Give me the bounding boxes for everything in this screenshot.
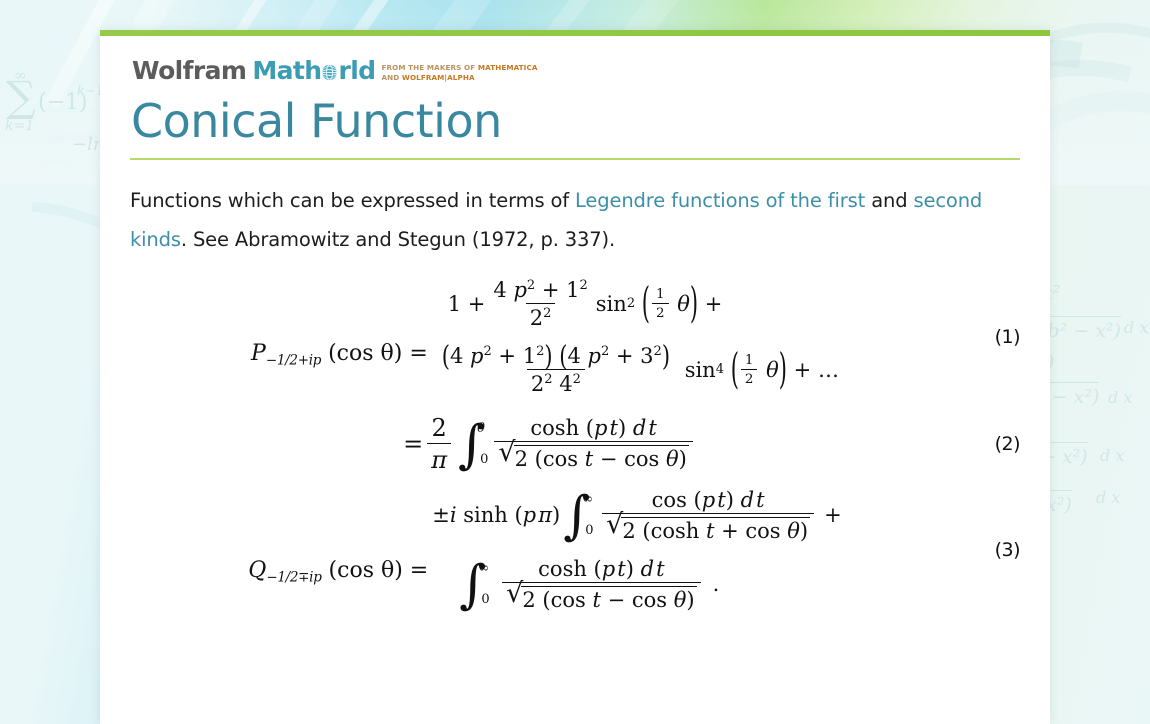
watermark-right-dx-2: d x xyxy=(1108,388,1132,407)
eq3-line1-trail: + xyxy=(824,503,842,527)
content-card: Wolfram Mathrld FROM THE MAKERS OF MATHE… xyxy=(100,30,1050,724)
tagline-line2-lead: AND xyxy=(381,73,401,82)
equation-3-lhs: Q−1/2∓ip (cos θ) = xyxy=(248,558,428,585)
equation-1-rhs: 1 + 4 p2 + 12 22 sin2 ( 12 θ) + xyxy=(434,278,839,396)
eq3-line1-integral: ∫ ∞ 0 xyxy=(563,492,595,538)
eq3-line2-integral-limits: ∞ 0 xyxy=(478,561,489,607)
equation-3-rhs: ±i sinh (p π) ∫ ∞ 0 cos (p t) d t xyxy=(432,488,841,612)
intro-text-3: . See Abramowitz and Stegun (1972, p. 33… xyxy=(181,228,615,251)
eq3-line2-integral-upper-limit: ∞ xyxy=(478,561,489,576)
logo-world-text: rld xyxy=(338,58,375,83)
equation-1-lhs: P−1/2+ip (cos θ) = xyxy=(251,341,428,368)
eq2-integral-lower-limit: 0 xyxy=(480,452,488,467)
eq1-line1-sin-term: sin2 ( 12 θ) + xyxy=(596,287,723,321)
eq2-integral-limits: θ 0 xyxy=(477,421,485,467)
eq3-line1-integral-upper-limit: ∞ xyxy=(582,492,593,507)
equation-3-row: Q−1/2∓ip (cos θ) = ±i sinh (p π) ∫ ∞ 0 xyxy=(130,488,1020,612)
eq2-integrand-numerator: cosh (p t) d t xyxy=(526,416,660,441)
logo-tagline: FROM THE MAKERS OF MATHEMATICA AND WOLFR… xyxy=(381,58,537,84)
watermark-right-dx-3: d x xyxy=(1100,446,1124,465)
eq2-integral: ∫ θ 0 xyxy=(458,421,487,467)
eq3-line1-fraction: cos (p t) d t √ 2 (cosh t + cos θ) xyxy=(602,488,814,543)
eq2-integrand-fraction: cosh (p t) d t √ 2 (cos t − cos θ) xyxy=(494,416,692,471)
link-legendre-first-kind[interactable]: Legendre functions of the first xyxy=(575,189,865,212)
eq3-line2-fraction: cosh (p t) d t √ 2 (cos t − cos θ) xyxy=(502,557,700,612)
watermark-right-dx-1: d x xyxy=(1124,318,1148,337)
equation-1-number: (1) xyxy=(995,326,1020,348)
eq2-coefficient-denominator: π xyxy=(427,443,451,474)
title-underline-rule xyxy=(130,158,1020,160)
eq3-line2-integral-lower-limit: 0 xyxy=(481,592,492,607)
eq3-line-1: ±i sinh (p π) ∫ ∞ 0 cos (p t) d t xyxy=(432,488,841,543)
intro-paragraph: Functions which can be expressed in term… xyxy=(130,182,1020,259)
eq1-line1-denominator: 22 xyxy=(526,303,556,330)
equation-2-number: (2) xyxy=(995,433,1020,455)
eq2-coefficient-fraction: 2 π xyxy=(427,414,451,474)
eq2-integrand-denominator: √ 2 (cos t − cos θ) xyxy=(494,441,692,471)
eq1-line2-numerator: (4 p2 + 12) (4 p2 + 32) xyxy=(438,344,674,369)
logo-wolfram-text: Wolfram xyxy=(132,58,246,83)
eq3-line-2: ∫ ∞ 0 cosh (p t) d t √ xyxy=(432,557,841,612)
eq1-argument: (cos θ) = xyxy=(328,341,428,366)
logo-mathworld-text: Mathrld xyxy=(252,58,375,83)
eq3-line2-trail: . xyxy=(713,572,720,596)
eq1-symbol-P: P xyxy=(251,341,266,366)
eq3-line2-numerator: cosh (p t) d t xyxy=(534,557,668,582)
eq1-line2-fraction: (4 p2 + 12) (4 p2 + 32) 22 42 xyxy=(438,344,674,396)
eq2-equals: = xyxy=(403,430,423,458)
intro-text-1: Functions which can be expressed in term… xyxy=(130,189,575,212)
equation-3-number: (3) xyxy=(995,539,1020,561)
eq2-integral-upper-limit: θ xyxy=(477,421,485,436)
watermark-right-dx-4: d x xyxy=(1096,488,1120,507)
equation-1-row: P−1/2+ip (cos θ) = 1 + 4 p2 + 12 22 xyxy=(130,278,1020,396)
intro-text-2: and xyxy=(865,189,913,212)
eq3-argument: (cos θ) = xyxy=(329,558,429,583)
eq1-line1-numerator: 4 p2 + 12 xyxy=(489,278,591,303)
equation-2-row: = 2 π ∫ θ 0 cosh xyxy=(130,414,1020,474)
eq1-line2-sin-term: sin4 ( 12 θ) + … xyxy=(678,353,839,387)
page-title: Conical Function xyxy=(130,96,1020,148)
logo-math-text: Math xyxy=(252,58,321,83)
eq3-line1-lead: ±i sinh (p π) xyxy=(432,503,560,527)
eq3-line1-integral-lower-limit: 0 xyxy=(585,523,596,538)
watermark-right-denom-1: (b² − x²) xyxy=(1040,316,1121,342)
eq3-symbol-Q: Q xyxy=(248,558,266,583)
eq1-line-2: (4 p2 + 12) (4 p2 + 32) 22 42 sin4 ( 12 … xyxy=(434,344,839,396)
eq1-line2-denominator: 22 42 xyxy=(527,369,585,396)
eq1-line1-lead: 1 + xyxy=(448,292,486,316)
tagline-line2-strong: WOLFRAM|ALPHA xyxy=(402,73,475,82)
eq3-line2-integral: ∫ ∞ 0 xyxy=(459,561,491,607)
eq3-line1-denominator: √ 2 (cosh t + cos θ) xyxy=(602,513,814,543)
equation-block: P−1/2+ip (cos θ) = 1 + 4 p2 + 12 22 xyxy=(130,278,1020,612)
equation-2-rhs: = 2 π ∫ θ 0 cosh xyxy=(393,414,697,474)
tagline-line1-lead: FROM THE MAKERS OF xyxy=(381,63,477,72)
eq1-line1-fraction: 4 p2 + 12 22 xyxy=(489,278,591,330)
eq2-coefficient-numerator: 2 xyxy=(428,414,451,443)
eq3-subscript: −1/2∓ip xyxy=(266,570,321,586)
site-logo[interactable]: Wolfram Mathrld FROM THE MAKERS OF MATHE… xyxy=(130,58,1020,84)
globe-icon xyxy=(321,60,338,77)
eq1-line-1: 1 + 4 p2 + 12 22 sin2 ( 12 θ) + xyxy=(434,278,839,330)
eq3-line2-denominator: √ 2 (cos t − cos θ) xyxy=(502,582,700,612)
eq3-line1-integral-limits: ∞ 0 xyxy=(582,492,593,538)
eq3-line1-numerator: cos (p t) d t xyxy=(648,488,769,513)
watermark-left-infinity: ∞ xyxy=(14,66,27,84)
eq1-subscript: −1/2+ip xyxy=(266,352,321,368)
tagline-line1-strong: MATHEMATICA xyxy=(478,63,538,72)
watermark-left-lower-limit: k=1 xyxy=(5,118,34,134)
